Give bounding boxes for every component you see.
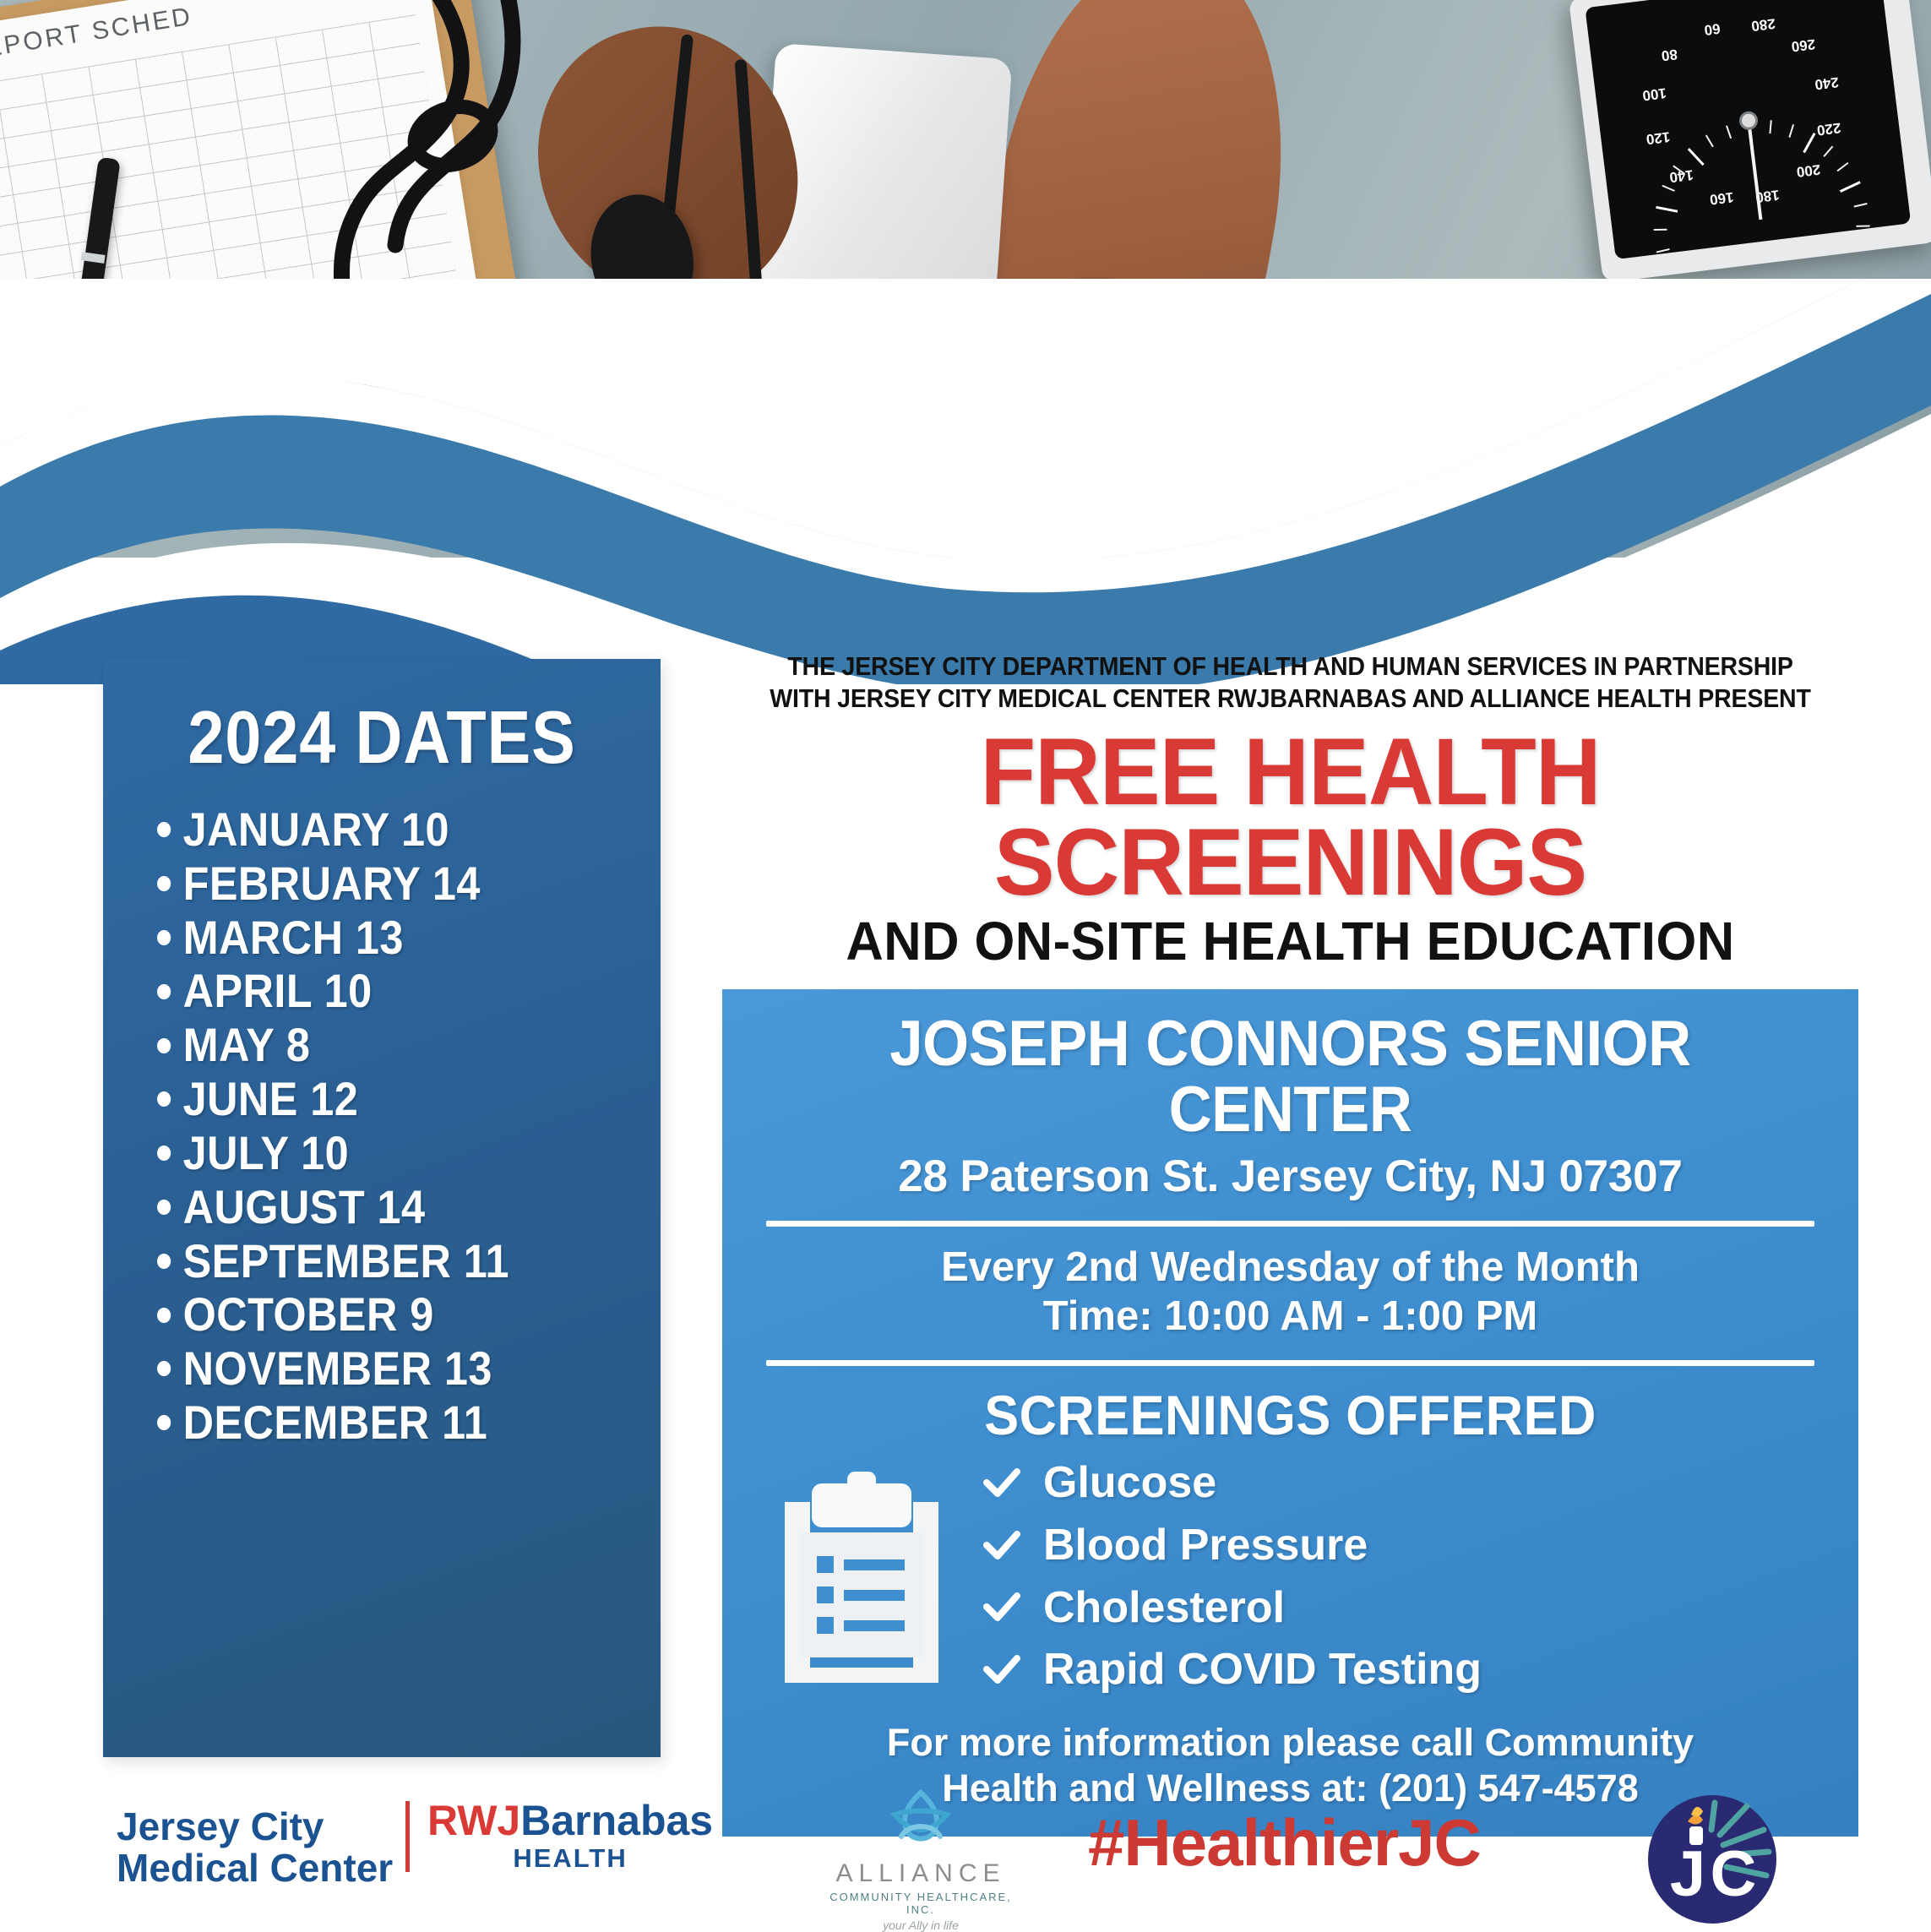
date-label: MAY 8 [183, 1018, 311, 1071]
dates-list: JANUARY 10 FEBRUARY 14 MARCH 13 APRIL 10… [103, 803, 661, 1450]
dates-title: 2024 DATES [137, 694, 628, 781]
clipboard-icon [773, 1472, 950, 1683]
main-content: THE JERSEY CITY DEPARTMENT OF HEALTH AND… [722, 650, 1858, 1837]
rwj-blue-text: Barnabas [520, 1797, 713, 1844]
list-item: APRIL 10 [157, 964, 610, 1018]
footer: Jersey City Medical Center RWJBarnabas H… [0, 1791, 1931, 1931]
check-icon [982, 1464, 1021, 1503]
list-item: MARCH 13 [157, 911, 610, 965]
page-subtitle: AND ON-SITE HEALTH EDUCATION [745, 913, 1836, 970]
date-label: FEBRUARY 14 [183, 857, 481, 910]
divider-top [766, 1221, 1814, 1227]
hashtag-healthierjc: #HealthierJC [1088, 1804, 1481, 1881]
list-item: FEBRUARY 14 [157, 857, 610, 911]
venue-name: JOSEPH CONNORS SENIOR CENTER [789, 1011, 1792, 1142]
bullet-icon [157, 1038, 171, 1053]
svg-text:J: J [1670, 1838, 1705, 1910]
list-item: JANUARY 10 [157, 803, 610, 857]
date-label: SEPTEMBER 11 [183, 1234, 509, 1287]
alliance-star-icon [884, 1786, 957, 1853]
list-item: Blood Pressure [982, 1515, 1482, 1577]
alliance-subtitle: COMMUNITY HEALTHCARE, INC. [819, 1891, 1022, 1916]
schedule-line-1: Every 2nd Wednesday of the Month [751, 1244, 1830, 1293]
page-title: FREE HEALTH SCREENINGS [745, 727, 1836, 908]
list-item: Glucose [982, 1452, 1482, 1515]
bullet-icon [157, 1091, 171, 1107]
list-item: NOVEMBER 13 [157, 1342, 610, 1396]
eyebrow-line-1: THE JERSEY CITY DEPARTMENT OF HEALTH AND… [768, 650, 1813, 683]
date-label: NOVEMBER 13 [183, 1342, 492, 1395]
venue-address: 28 Paterson St. Jersey City, NJ 07307 [751, 1151, 1830, 1202]
screening-label: Rapid COVID Testing [1043, 1639, 1482, 1701]
date-label: JUNE 12 [183, 1072, 359, 1125]
gauge-dial: 280 260 240 220 200 180 160 140 120 100 … [1622, 0, 1876, 248]
alliance-logo: ALLIANCE COMMUNITY HEALTHCARE, INC. your… [819, 1786, 1022, 1932]
date-label: DECEMBER 11 [183, 1396, 488, 1449]
bullet-icon [157, 1415, 171, 1430]
wave-divider [0, 279, 1931, 684]
jcmc-logo: Jersey City Medical Center [117, 1806, 393, 1889]
screening-label: Cholesterol [1043, 1577, 1285, 1640]
bullet-icon [157, 1254, 171, 1269]
date-label: MARCH 13 [183, 911, 404, 964]
gauge-face: 280 260 240 220 200 180 160 140 120 100 … [1585, 0, 1911, 259]
alliance-tagline: your Ally in life [819, 1918, 1022, 1932]
list-item: JUNE 12 [157, 1072, 610, 1126]
logo-divider [405, 1801, 410, 1872]
bullet-icon [157, 1200, 171, 1215]
bullet-icon [157, 930, 171, 945]
rwj-wordmark: RWJBarnabas [427, 1799, 713, 1842]
svg-text:C: C [1711, 1838, 1757, 1910]
list-item: Rapid COVID Testing [982, 1639, 1482, 1701]
screenings-offered-title: SCREENINGS OFFERED [789, 1383, 1792, 1447]
jersey-city-seal-icon: J C [1645, 1793, 1779, 1926]
list-item: Cholesterol [982, 1577, 1482, 1640]
bullet-icon [157, 876, 171, 891]
jcmc-line-2: Medical Center [117, 1848, 393, 1889]
eyebrow-line-2: WITH JERSEY CITY MEDICAL CENTER RWJBARNA… [768, 683, 1813, 715]
gauge-hub [1738, 110, 1760, 131]
list-item: AUGUST 14 [157, 1180, 610, 1234]
screening-label: Glucose [1043, 1452, 1216, 1515]
bullet-icon [157, 1308, 171, 1323]
contact-line-1: For more information please call Communi… [751, 1720, 1830, 1766]
date-label: AUGUST 14 [183, 1180, 426, 1233]
check-icon [982, 1588, 1021, 1627]
dates-panel: 2024 DATES JANUARY 10 FEBRUARY 14 MARCH … [103, 659, 661, 1757]
list-item: JULY 10 [157, 1126, 610, 1180]
date-label: JULY 10 [183, 1126, 350, 1179]
date-label: OCTOBER 9 [183, 1287, 434, 1341]
rwjbarnabas-logo: RWJBarnabas HEALTH [427, 1799, 713, 1874]
rwj-health-text: HEALTH [427, 1843, 713, 1874]
list-item: SEPTEMBER 11 [157, 1234, 610, 1288]
divider-bottom [766, 1360, 1814, 1366]
rwj-red-text: RWJ [427, 1797, 520, 1844]
alliance-name: ALLIANCE [819, 1859, 1022, 1888]
bullet-icon [157, 822, 171, 837]
bullet-icon [157, 984, 171, 999]
sphygmomanometer-gauge-icon: 280 260 240 220 200 180 160 140 120 100 … [1569, 0, 1931, 283]
date-label: APRIL 10 [183, 964, 373, 1017]
jcmc-line-1: Jersey City [117, 1806, 393, 1848]
check-icon [982, 1651, 1021, 1690]
bullet-icon [157, 1361, 171, 1376]
list-item: DECEMBER 11 [157, 1396, 610, 1450]
event-info-panel: JOSEPH CONNORS SENIOR CENTER 28 Paterson… [722, 989, 1858, 1837]
screenings-list: Glucose Blood Pressure Cholesterol [982, 1452, 1482, 1701]
screenings-row: Glucose Blood Pressure Cholesterol [751, 1452, 1830, 1701]
list-item: OCTOBER 9 [157, 1287, 610, 1342]
date-label: JANUARY 10 [183, 803, 449, 856]
list-item: MAY 8 [157, 1018, 610, 1072]
screening-label: Blood Pressure [1043, 1515, 1368, 1577]
check-icon [982, 1527, 1021, 1565]
schedule-line-2: Time: 10:00 AM - 1:00 PM [751, 1293, 1830, 1342]
bullet-icon [157, 1146, 171, 1161]
